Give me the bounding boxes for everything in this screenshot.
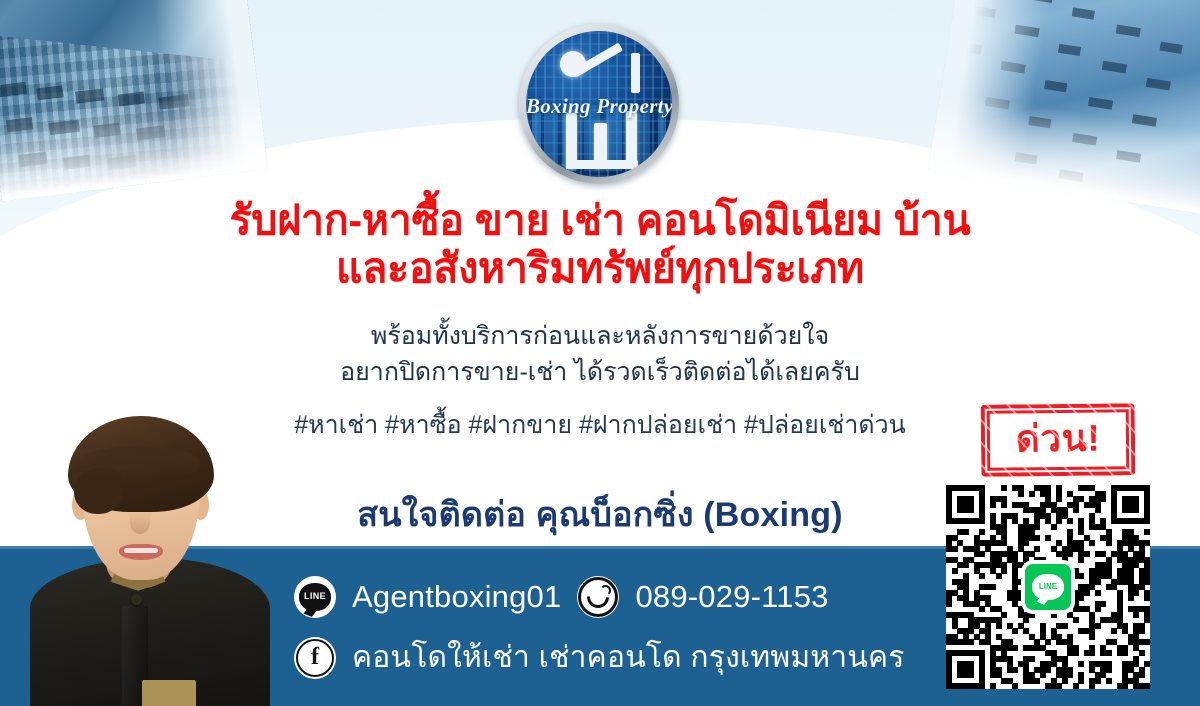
line-icon-label: LINE	[304, 592, 326, 601]
logo-roof-icon	[574, 47, 646, 91]
page-title: รับฝาก-หาซื้อ ขาย เช่า คอนโดมิเนียม บ้าน…	[0, 196, 1200, 293]
logo-disc: Boxing Property	[526, 31, 672, 177]
urgent-stamp-label: ด่วน!	[1016, 420, 1101, 461]
logo-wordmark: Boxing Property	[526, 94, 672, 119]
urgent-stamp: ด่วน!	[981, 403, 1136, 477]
line-icon[interactable]: LINE	[294, 576, 336, 618]
poster-canvas: Boxing Property รับฝาก-หาซื้อ ขาย เช่า ค…	[0, 0, 1200, 706]
line-id-value[interactable]: Agentboxing01	[352, 579, 561, 615]
building-left-image	[0, 0, 268, 202]
headline-line-2: และอสังหาริมทรัพย์ทุกประเภท	[0, 244, 1200, 292]
facebook-icon-label: f	[311, 645, 319, 669]
brand-logo: Boxing Property	[519, 24, 679, 184]
headline-line-1: รับฝาก-หาซื้อ ขาย เช่า คอนโดมิเนียม บ้าน	[230, 197, 971, 243]
line-qr-code[interactable]: LINE	[946, 485, 1150, 689]
qr-center-line-icon: LINE	[1021, 560, 1075, 614]
phone-ringing-icon[interactable]	[577, 576, 619, 618]
phone-number-value[interactable]: 089-029-1153	[635, 579, 828, 615]
facebook-page-value[interactable]: คอนโดให้เช่า เช่าคอนโด กรุงเทพมหานคร	[352, 634, 905, 681]
subheading: พร้อมทั้งบริการก่อนและหลังการขายด้วยใจ อ…	[0, 318, 1200, 391]
facebook-icon[interactable]: f	[294, 637, 336, 679]
contact-row-line-phone: LINE Agentboxing01 089-029-1153	[294, 576, 829, 618]
subheading-line-1: พร้อมทั้งบริการก่อนและหลังการขายด้วยใจ	[0, 318, 1200, 354]
agent-portrait	[14, 408, 276, 706]
subheading-line-2: อยากปิดการขาย-เช่า ได้รวดเร็วติดต่อได้เล…	[0, 354, 1200, 390]
contact-row-facebook: f คอนโดให้เช่า เช่าคอนโด กรุงเทพมหานคร	[294, 634, 905, 681]
qr-center-line-label: LINE	[1039, 583, 1057, 591]
